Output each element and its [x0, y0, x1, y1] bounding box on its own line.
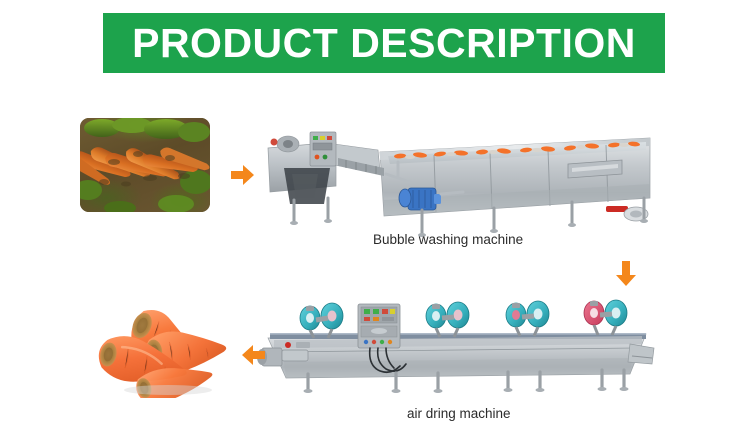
- clean-carrots-photo: [98, 290, 230, 398]
- arrow-right-to-washer: [231, 164, 255, 186]
- product-description-banner: PRODUCT DESCRIPTION: [103, 13, 665, 73]
- raw-carrots-photo: [80, 118, 210, 212]
- raw-carrots-illustration: [80, 118, 210, 212]
- dryer-leg-feet: [304, 387, 629, 393]
- blower-fan: [300, 303, 343, 338]
- drain-valve: [606, 206, 648, 221]
- bubble-washing-machine-illustration: [258, 112, 658, 237]
- arrow-down-to-dryer: [615, 261, 637, 287]
- arrow-left-to-product: [241, 344, 265, 366]
- blower-fan: [584, 300, 627, 335]
- dryer-frame: [268, 333, 646, 378]
- bubble-washing-machine: [258, 112, 658, 242]
- page-title: PRODUCT DESCRIPTION: [132, 23, 636, 64]
- air-drying-machine: [258, 290, 658, 403]
- infeed-section: [268, 132, 384, 204]
- discharge-end: [628, 344, 654, 364]
- blower-fan: [426, 302, 469, 337]
- blower-fan: [506, 301, 549, 336]
- bubble-washing-machine-caption: Bubble washing machine: [373, 232, 523, 247]
- product-description-page: PRODUCT DESCRIPTION: [0, 0, 750, 443]
- air-drying-machine-illustration: [258, 290, 658, 398]
- pump-motor: [399, 188, 441, 210]
- blower-fan-assemblies: [300, 300, 627, 338]
- clean-carrots-illustration: [98, 290, 230, 398]
- air-drying-machine-caption: air dring machine: [407, 406, 511, 421]
